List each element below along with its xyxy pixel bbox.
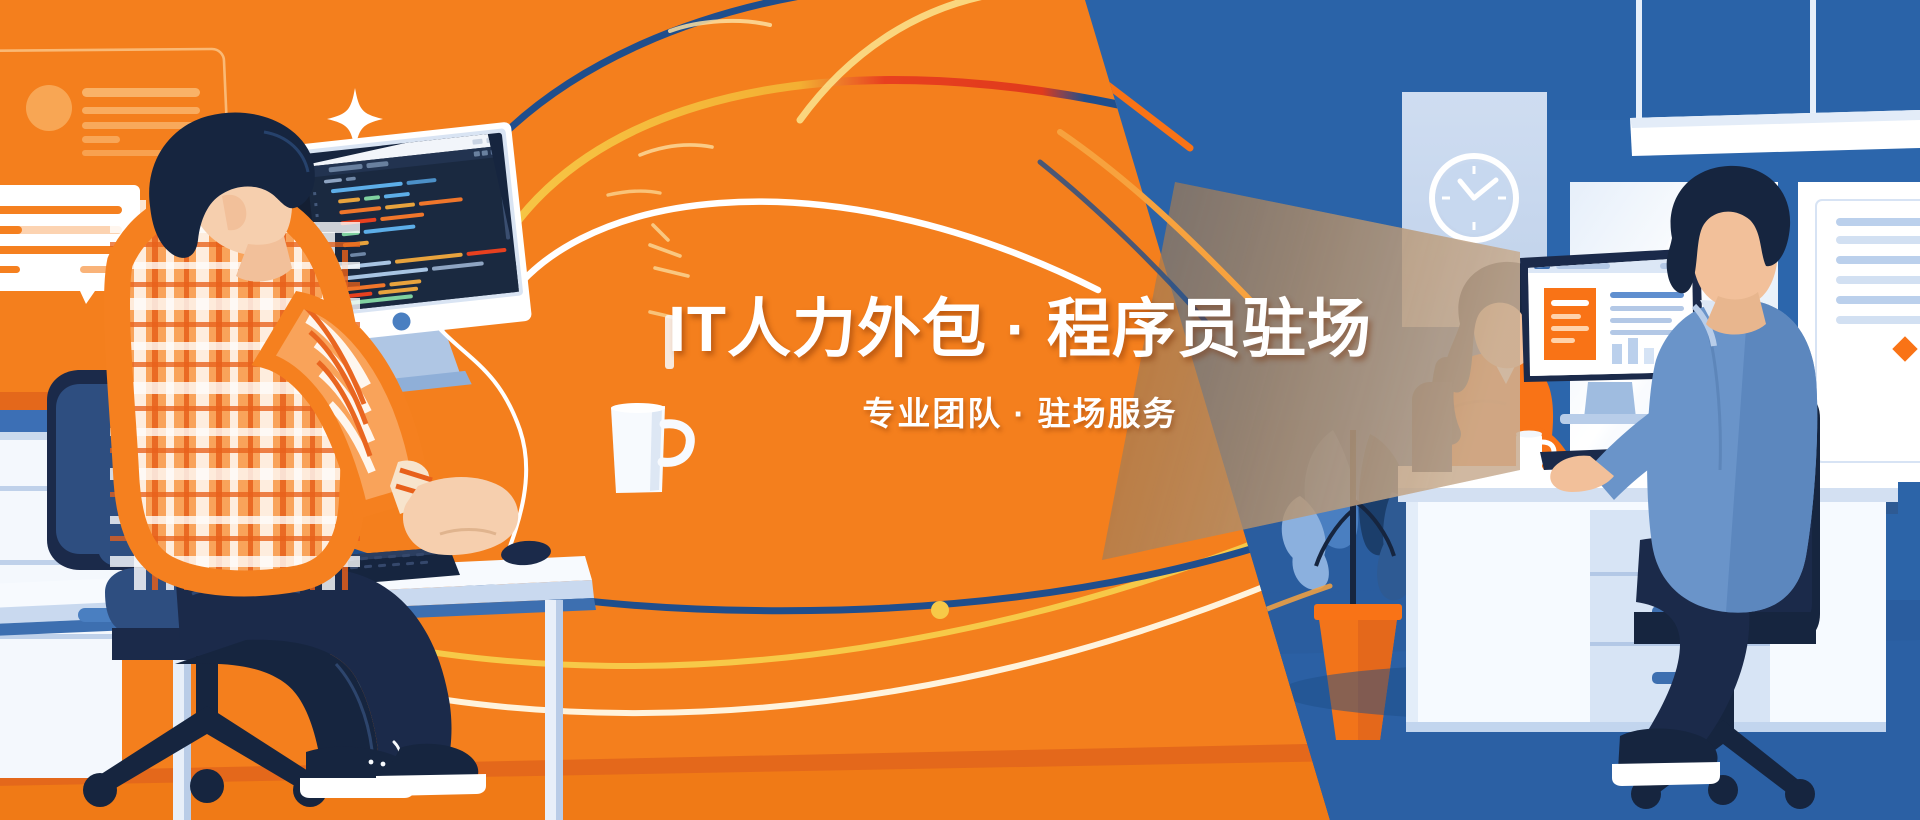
wall-clock-icon <box>1432 156 1516 240</box>
scene-artwork <box>0 0 1920 820</box>
wave-dot <box>931 601 949 619</box>
banner-root: IT人力外包 · 程序员驻场 专业团队 · 驻场服务 <box>0 0 1920 820</box>
